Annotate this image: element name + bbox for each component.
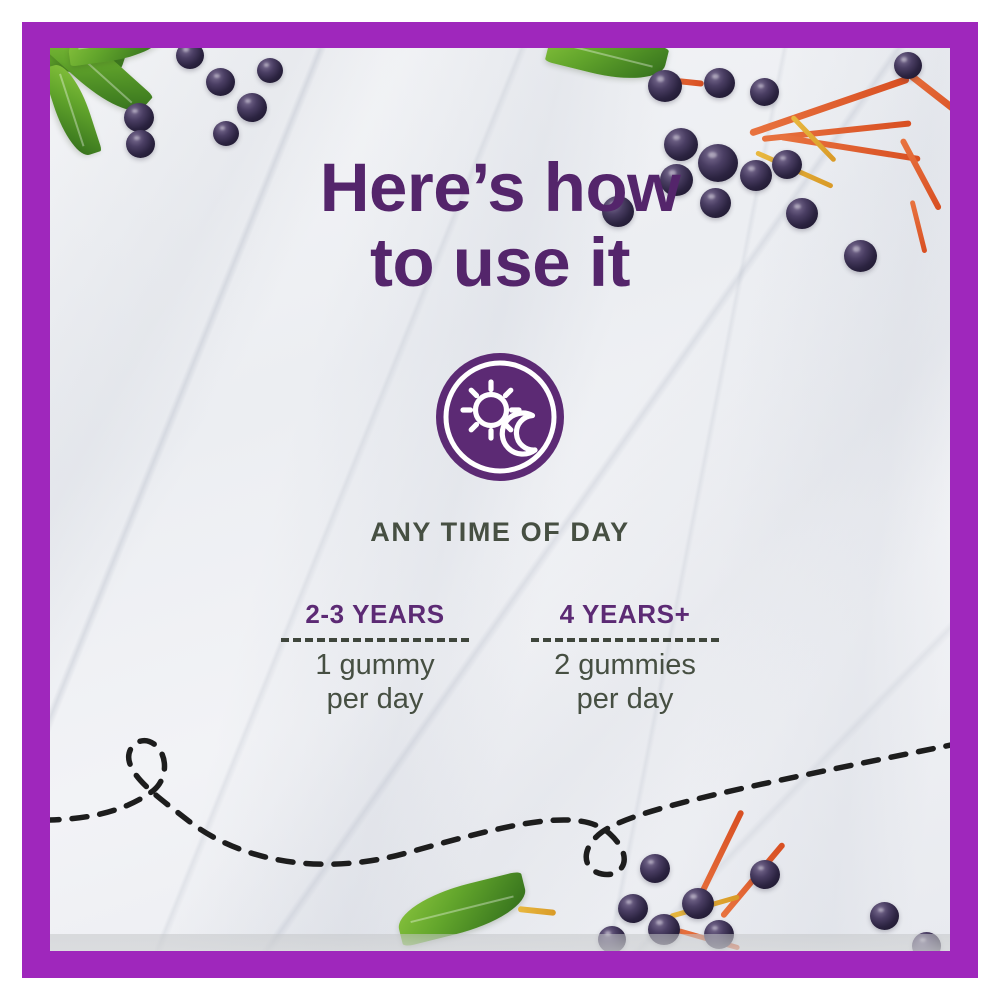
dosage-amount: 2 gummies per day [531,648,719,716]
berry-decoration [648,70,682,102]
photo-bottom-band [50,934,950,951]
berry-decoration [750,860,780,889]
dosage-amount: 1 gummy per day [281,648,469,716]
berry-decoration [618,894,648,923]
berry-decoration [257,58,283,83]
dosage-divider [281,638,469,642]
stem-decoration [518,906,556,916]
dosage-amount-line-2: per day [531,682,719,716]
badge-container [0,352,1000,482]
dosage-amount-line-2: per day [281,682,469,716]
berry-decoration [750,78,779,106]
headline-line-2: to use it [0,225,1000,300]
berry-decoration [870,902,899,930]
berry-decoration [124,103,154,132]
berry-decoration [894,52,922,79]
berry-decoration [206,68,235,96]
berry-decoration [176,48,204,69]
page-title: Here’s how to use it [0,150,1000,300]
berry-decoration [237,93,267,122]
dosage-divider [531,638,719,642]
usage-time-label: ANY TIME OF DAY [0,517,1000,548]
berry-decoration [682,888,714,919]
berry-decoration [213,121,239,146]
headline-line-1: Here’s how [0,150,1000,225]
berry-decoration [640,854,670,883]
dosage-column: 4 YEARS+ 2 gummies per day [531,600,719,716]
dosage-column: 2-3 YEARS 1 gummy per day [281,600,469,716]
berry-decoration [704,68,735,98]
sun-and-moon-icon [435,352,565,482]
dosage-table: 2-3 YEARS 1 gummy per day 4 YEARS+ 2 gum… [0,600,1000,716]
dosage-age-range: 2-3 YEARS [281,600,469,629]
dosage-amount-line-1: 1 gummy [281,648,469,682]
infographic-canvas: Here’s how to use it ANY TIME OF [0,0,1000,1000]
dosage-amount-line-1: 2 gummies [531,648,719,682]
dosage-age-range: 4 YEARS+ [531,600,719,629]
